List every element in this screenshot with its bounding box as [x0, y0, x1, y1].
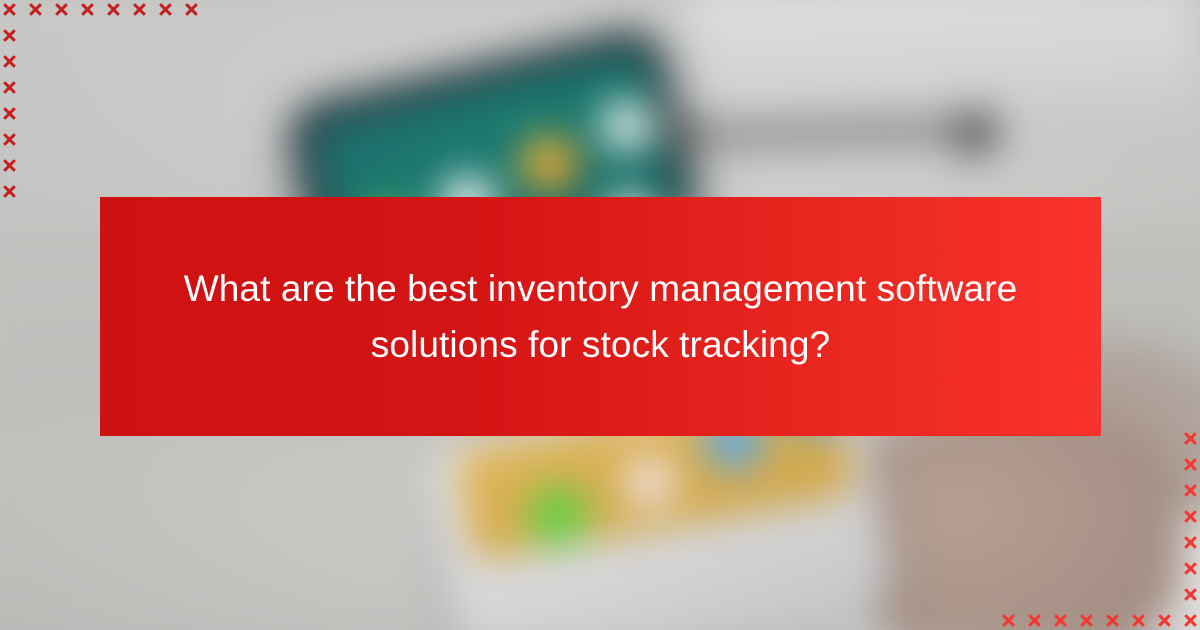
- x-mark-icon: [1105, 613, 1120, 628]
- x-mark-icon: [2, 184, 17, 199]
- x-mark-icon: [2, 28, 17, 43]
- x-mark-icon: [1079, 613, 1094, 628]
- headline-banner: What are the best inventory management s…: [100, 197, 1101, 436]
- app-icon-green-2: [524, 482, 593, 551]
- x-mark-icon: [2, 2, 17, 17]
- x-mark-icon: [1001, 613, 1016, 628]
- stylus-cap: [658, 110, 700, 152]
- app-icon-pink: [619, 451, 680, 512]
- stylus-tip: [950, 108, 999, 157]
- x-mark-icon: [1183, 483, 1198, 498]
- x-mark-icon: [1027, 613, 1042, 628]
- x-mark-icon: [54, 2, 69, 17]
- x-mark-icon: [1131, 613, 1146, 628]
- x-mark-icon: [1157, 613, 1172, 628]
- x-mark-icon: [2, 132, 17, 147]
- x-mark-icon: [2, 54, 17, 69]
- x-mark-icon: [184, 2, 199, 17]
- x-mark-icon: [1053, 613, 1068, 628]
- hand-holding-phone: [833, 405, 1183, 630]
- x-mark-icon: [132, 2, 147, 17]
- x-mark-icon: [158, 2, 173, 17]
- headline-text: What are the best inventory management s…: [100, 261, 1101, 373]
- x-mark-icon: [1183, 457, 1198, 472]
- x-mark-icon: [1183, 535, 1198, 550]
- x-mark-icon: [1183, 613, 1198, 628]
- x-mark-icon: [2, 158, 17, 173]
- app-icon-yellow: [515, 130, 584, 199]
- x-mark-icon: [1183, 431, 1198, 446]
- x-mark-icon: [1183, 587, 1198, 602]
- app-icon-pale: [593, 93, 659, 159]
- x-mark-icon: [28, 2, 43, 17]
- social-share-card: What are the best inventory management s…: [0, 0, 1200, 630]
- x-mark-icon: [106, 2, 121, 17]
- x-mark-icon: [2, 80, 17, 95]
- x-mark-icon: [80, 2, 95, 17]
- x-mark-icon: [1183, 561, 1198, 576]
- x-mark-icon: [1183, 509, 1198, 524]
- x-mark-icon: [2, 106, 17, 121]
